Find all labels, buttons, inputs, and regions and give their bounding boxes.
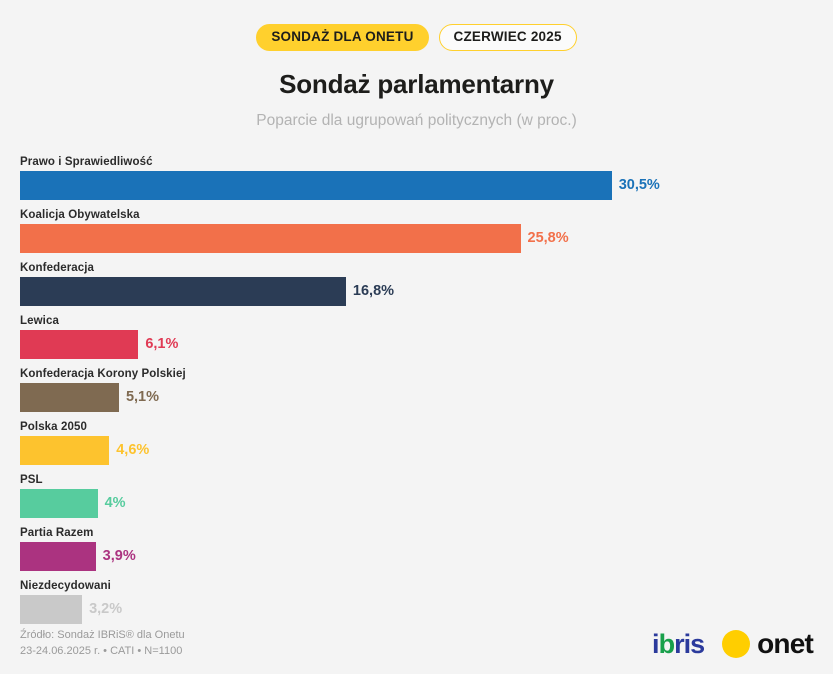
bar-fill [20,277,346,306]
bar-row: Partia Razem3,9% [20,527,813,571]
bar-category-label: Konfederacja Korony Polskiej [20,368,813,380]
badge-group: SONDAŻ DLA ONETU CZERWIEC 2025 [0,0,833,51]
bar-row: Niezdecydowani3,2% [20,580,813,624]
badge-survey-period: CZERWIEC 2025 [439,24,577,51]
bar-category-label: Konfederacja [20,262,813,274]
bar-line: 5,1% [20,383,813,412]
logo-group: ibris onet [652,630,813,660]
bar-fill [20,171,612,200]
source-note: Źródło: Sondaż IBRiS® dla Onetu 23-24.06… [20,628,185,660]
footer: Źródło: Sondaż IBRiS® dla Onetu 23-24.06… [20,628,813,660]
bar-fill [20,542,96,571]
onet-logo-text: onet [757,630,813,658]
bar-line: 4,6% [20,436,813,465]
bar-value-label: 16,8% [353,283,394,299]
bar-fill [20,330,138,359]
bar-value-label: 4,6% [116,442,149,458]
bar-fill [20,489,98,518]
bar-fill [20,595,82,624]
bar-category-label: Polska 2050 [20,421,813,433]
ibris-logo-accent: b [659,629,675,659]
bar-fill [20,224,521,253]
bar-line: 30,5% [20,171,813,200]
bar-category-label: Partia Razem [20,527,813,539]
poll-infographic: SONDAŻ DLA ONETU CZERWIEC 2025 Sondaż pa… [0,0,833,674]
bar-row: PSL4% [20,474,813,518]
ibris-logo-part2: ris [674,629,704,659]
bar-value-label: 30,5% [619,177,660,193]
page-subtitle: Poparcie dla ugrupowań politycznych (w p… [0,112,833,130]
bar-row: Konfederacja16,8% [20,262,813,306]
onet-circle-icon [722,630,750,658]
source-line-1: Źródło: Sondaż IBRiS® dla Onetu [20,628,185,644]
bar-value-label: 25,8% [528,230,569,246]
page-title: Sondaż parlamentarny [0,69,833,100]
bar-category-label: Niezdecydowani [20,580,813,592]
bar-line: 3,2% [20,595,813,624]
bar-chart: Prawo i Sprawiedliwość30,5%Koalicja Obyw… [0,156,833,624]
bar-category-label: Lewica [20,315,813,327]
bar-category-label: Prawo i Sprawiedliwość [20,156,813,168]
bar-row: Koalicja Obywatelska25,8% [20,209,813,253]
bar-line: 16,8% [20,277,813,306]
bar-line: 4% [20,489,813,518]
source-line-2: 23-24.06.2025 r. • CATI • N=1100 [20,644,185,660]
bar-line: 3,9% [20,542,813,571]
bar-row: Konfederacja Korony Polskiej5,1% [20,368,813,412]
bar-row: Lewica6,1% [20,315,813,359]
bar-value-label: 5,1% [126,389,159,405]
bar-fill [20,383,119,412]
bar-fill [20,436,109,465]
bar-line: 25,8% [20,224,813,253]
bar-value-label: 4% [105,495,126,511]
bar-category-label: Koalicja Obywatelska [20,209,813,221]
bar-row: Prawo i Sprawiedliwość30,5% [20,156,813,200]
badge-survey-owner: SONDAŻ DLA ONETU [256,24,428,51]
bar-category-label: PSL [20,474,813,486]
bar-value-label: 3,2% [89,601,122,617]
bar-line: 6,1% [20,330,813,359]
ibris-logo: ibris [652,631,704,658]
bar-row: Polska 20504,6% [20,421,813,465]
onet-logo: onet [722,630,813,658]
bar-value-label: 3,9% [103,548,136,564]
bar-value-label: 6,1% [145,336,178,352]
